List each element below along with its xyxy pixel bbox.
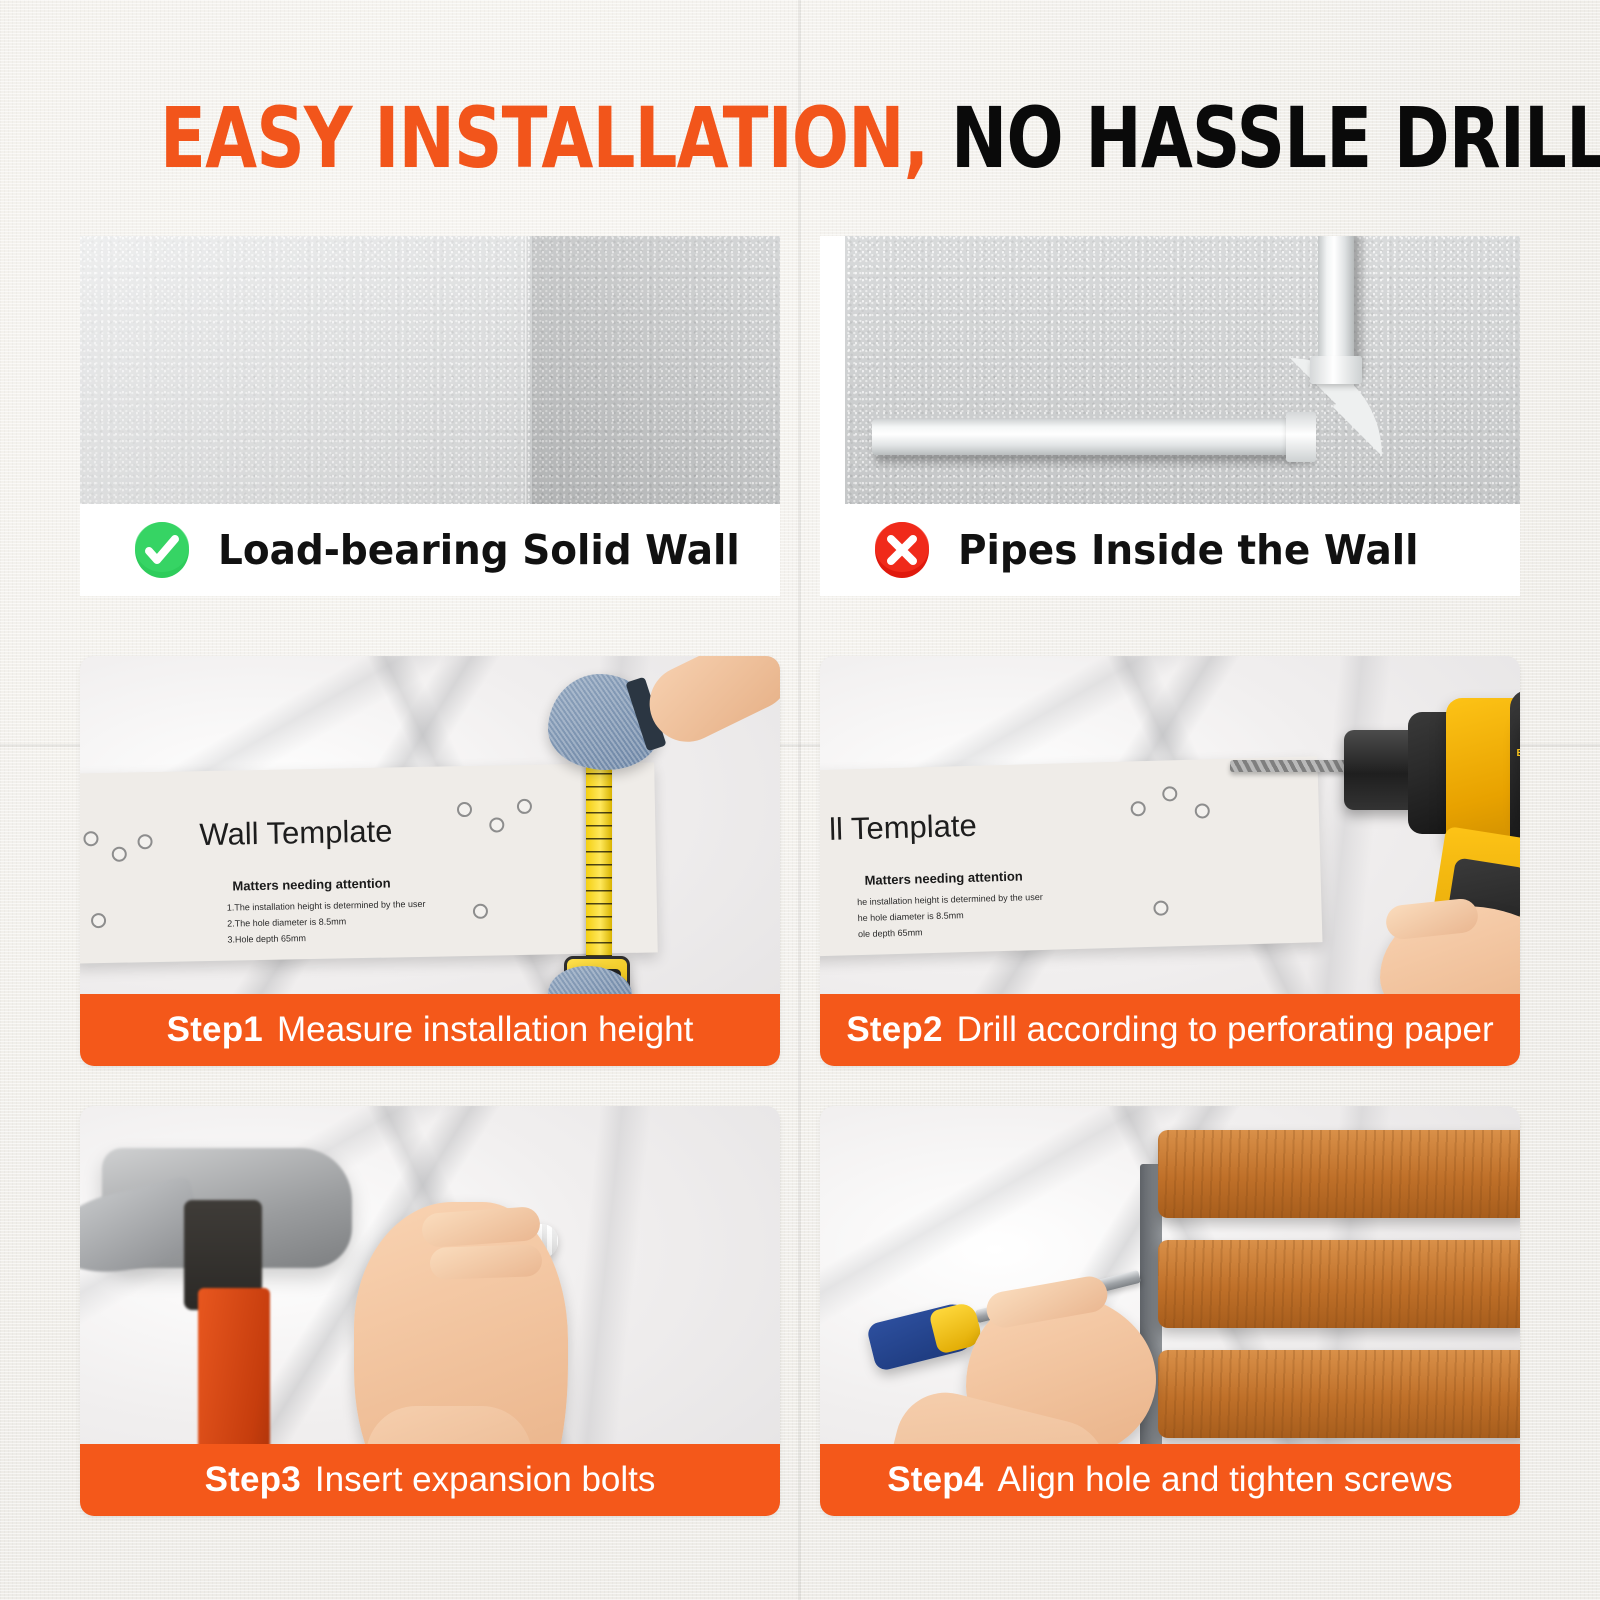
wood-slat [1158, 1350, 1520, 1438]
step-2-number: Step2 [846, 1010, 942, 1050]
drill-badge-label: BRUSHLESS MOTOR [1516, 748, 1520, 772]
template-note-3: 3.Hole depth 65mm [227, 933, 306, 945]
x-circle-icon [874, 521, 930, 579]
step-4-text: Align hole and tighten screws [998, 1460, 1453, 1500]
pipes-label-row: Pipes Inside the Wall [820, 504, 1520, 596]
template-hole [473, 904, 488, 919]
template-hole [137, 834, 152, 849]
step-3-caption-bar: Step3 Insert expansion bolts [80, 1444, 780, 1516]
pipe-shadow-vertical [1354, 236, 1368, 376]
solid-wall-label-row: Load-bearing Solid Wall [80, 504, 780, 596]
pipes-in-wall-photo [820, 236, 1520, 504]
headline-dark: NO HASSLE DRILLING [951, 89, 1600, 187]
template-title: ll Template [829, 808, 978, 848]
comparison-card-solid-wall: Load-bearing Solid Wall [80, 236, 780, 596]
page-title: EASY INSTALLATION, NO HASSLE DRILLING [160, 96, 1440, 180]
step-1-text: Measure installation height [277, 1010, 693, 1050]
template-hole [489, 817, 504, 832]
template-hole [83, 831, 98, 846]
check-circle-icon [134, 521, 190, 579]
wall-light-gradient [80, 236, 780, 504]
wall-template-sheet: ll Template Matters needing attention he… [820, 756, 1322, 958]
template-hole [1195, 803, 1210, 818]
wood-slat [1158, 1240, 1520, 1328]
installation-steps-section: Wall Template Matters needing attention … [80, 656, 1520, 1556]
pipes-label: Pipes Inside the Wall [958, 526, 1418, 574]
step-4-caption-bar: Step4 Align hole and tighten screws [820, 1444, 1520, 1516]
thumb [429, 1244, 542, 1280]
template-note-1: 1.The installation height is determined … [227, 899, 426, 913]
drill-rear-cap [1510, 690, 1520, 856]
template-hole [1153, 900, 1168, 915]
template-hole [91, 913, 106, 928]
step-1-caption-bar: Step1 Measure installation height [80, 994, 780, 1066]
solid-wall-label: Load-bearing Solid Wall [218, 526, 740, 574]
template-title: Wall Template [199, 813, 393, 853]
template-note-2: he hole diameter is 8.5mm [857, 910, 963, 923]
step-4-number: Step4 [887, 1460, 983, 1500]
comparison-card-pipes: Pipes Inside the Wall [820, 236, 1520, 596]
step-card-4: Step4 Align hole and tighten screws [820, 1106, 1520, 1516]
template-note-3: ole depth 65mm [858, 927, 923, 939]
template-subtitle: Matters needing attention [864, 868, 1023, 887]
headline-accent: EASY INSTALLATION, [160, 89, 928, 187]
step-1-number: Step1 [167, 1010, 263, 1050]
wall-comparison-section: Load-bearing Solid Wall Pipes [80, 236, 1520, 596]
pipe-shadow-horizontal [876, 455, 1296, 469]
step-2-caption-bar: Step2 Drill according to perforating pap… [820, 994, 1520, 1066]
step-card-1: Wall Template Matters needing attention … [80, 656, 780, 1066]
step-3-text: Insert expansion bolts [315, 1460, 655, 1500]
step-card-3: Step3 Insert expansion bolts [80, 1106, 780, 1516]
wall-left-margin [820, 236, 845, 504]
template-subtitle: Matters needing attention [232, 875, 390, 893]
step-3-number: Step3 [205, 1460, 301, 1500]
steps-row-top: Wall Template Matters needing attention … [80, 656, 1520, 1066]
template-note-2: 2.The hole diameter is 8.5mm [227, 916, 346, 928]
template-note-1: he installation height is determined by … [857, 892, 1043, 907]
pipe-horizontal [872, 419, 1296, 455]
pipe-coupling-horizontal [1286, 412, 1316, 462]
template-hole [517, 799, 532, 814]
wood-slat-seat [1158, 1130, 1520, 1468]
template-hole [1130, 801, 1145, 816]
template-hole [1162, 786, 1177, 801]
template-hole [457, 802, 472, 817]
steps-row-bottom: Step3 Insert expansion bolts Step4 Align [80, 1106, 1520, 1516]
step-2-text: Drill according to perforating paper [957, 1010, 1494, 1050]
solid-wall-photo [80, 236, 780, 504]
wall-template-sheet: Wall Template Matters needing attention … [80, 762, 658, 963]
masonry-drill-bit [1230, 760, 1354, 772]
template-hole [112, 847, 127, 862]
wood-slat [1158, 1130, 1520, 1218]
pipe-coupling-vertical [1310, 356, 1362, 384]
step-card-2: ll Template Matters needing attention he… [820, 656, 1520, 1066]
